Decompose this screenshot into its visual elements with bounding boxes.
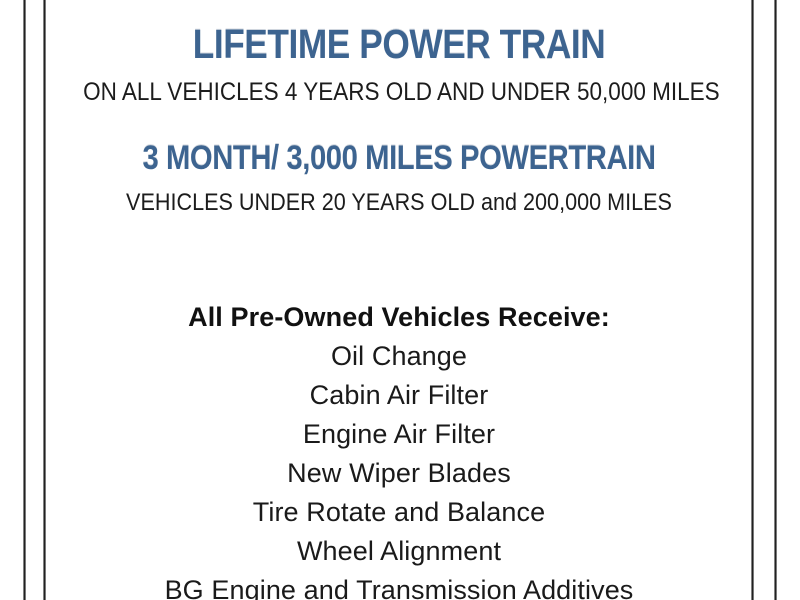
service-item: Tire Rotate and Balance	[48, 493, 750, 532]
service-item: Wheel Alignment	[48, 532, 750, 571]
service-item: Cabin Air Filter	[48, 376, 750, 415]
service-item: BG Engine and Transmission Additives	[48, 571, 750, 600]
right-inner-rule	[751, 0, 754, 600]
left-outer-rule	[23, 0, 26, 600]
services-block: All Pre-Owned Vehicles Receive: Oil Chan…	[48, 298, 750, 600]
left-inner-rule	[43, 0, 46, 600]
services-title: All Pre-Owned Vehicles Receive:	[48, 298, 750, 337]
right-outer-rule	[774, 0, 777, 600]
service-item: Oil Change	[48, 337, 750, 376]
three-month-powertrain-subline: VEHICLES UNDER 20 YEARS OLD and 200,000 …	[83, 191, 715, 215]
service-item: Engine Air Filter	[48, 415, 750, 454]
flyer-content: LIFETIME POWER TRAIN ON ALL VEHICLES 4 Y…	[48, 0, 750, 600]
service-item: New Wiper Blades	[48, 454, 750, 493]
lifetime-powertrain-subline: ON ALL VEHICLES 4 YEARS OLD AND UNDER 50…	[83, 80, 715, 105]
flyer-page: LIFETIME POWER TRAIN ON ALL VEHICLES 4 Y…	[0, 0, 800, 600]
lifetime-powertrain-headline: LIFETIME POWER TRAIN	[97, 24, 701, 65]
three-month-powertrain-headline: 3 MONTH/ 3,000 MILES POWERTRAIN	[97, 141, 701, 175]
